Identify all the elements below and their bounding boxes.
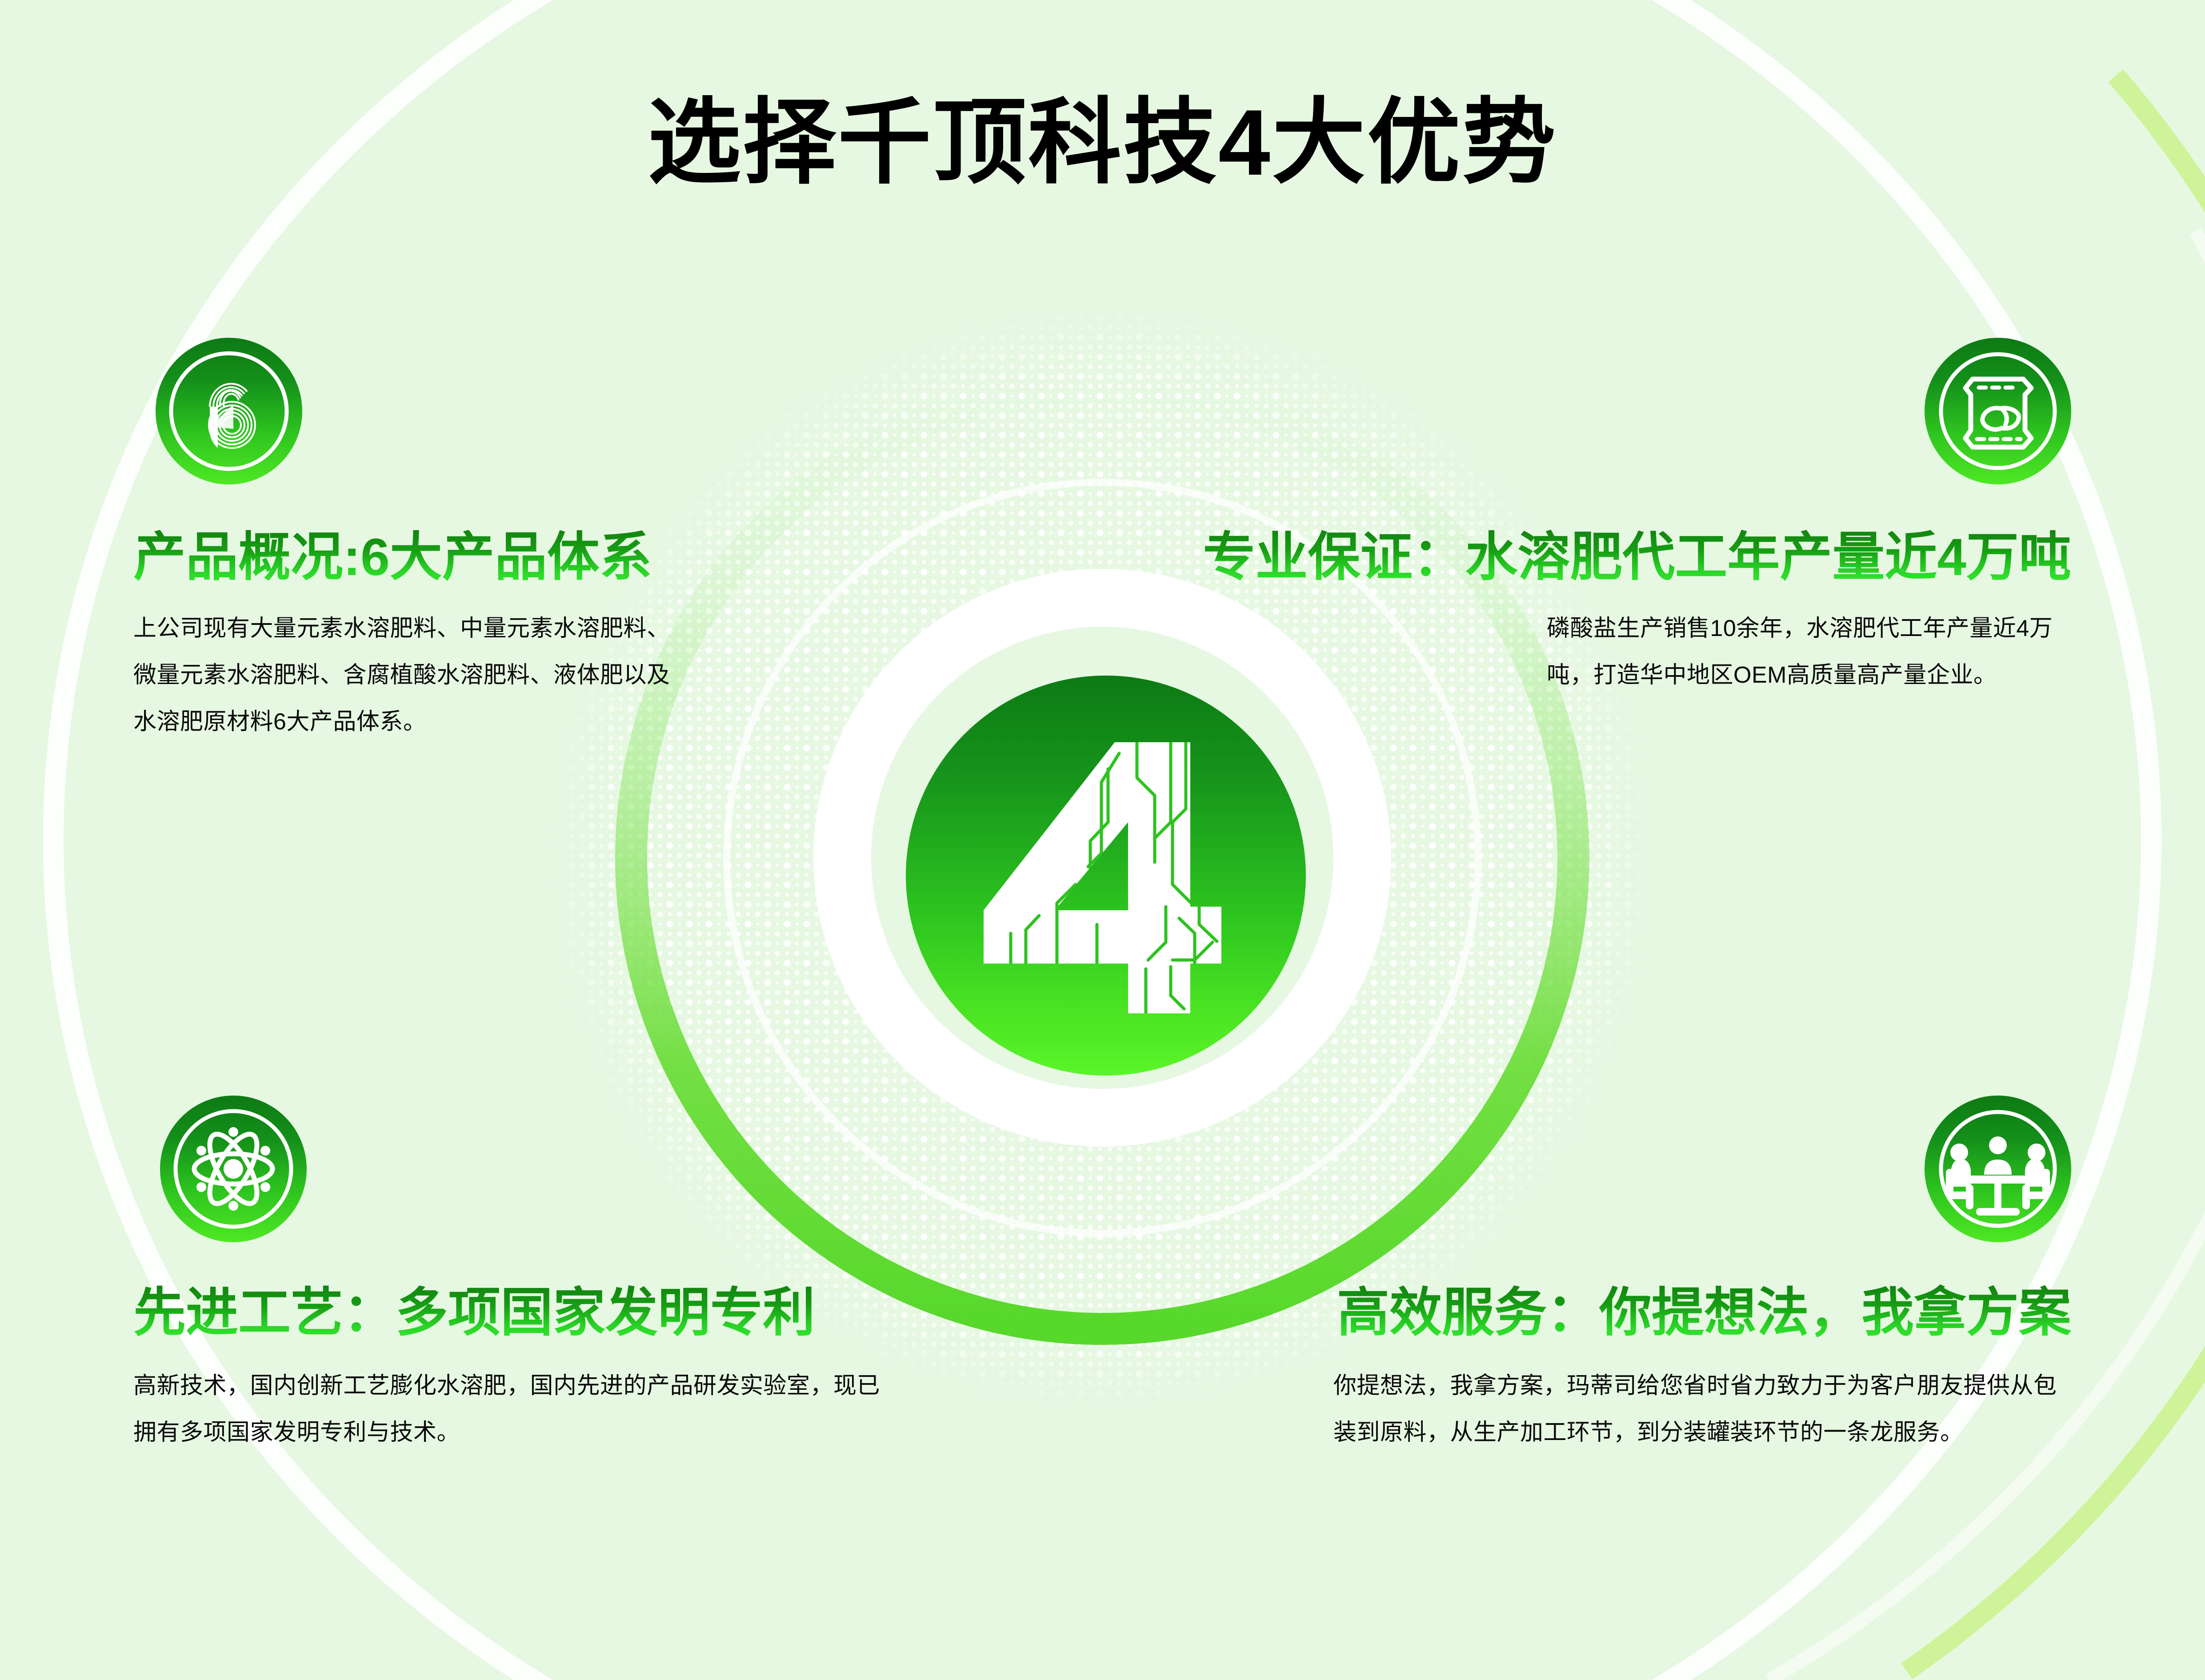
- fertilizer-bag-icon: [1925, 338, 2071, 484]
- atom-icon: [160, 1096, 307, 1242]
- feature-body: 高新技术，国内创新工艺膨化水溶肥，国内先进的产品研发实验室，现已拥有多项国家发明…: [133, 1363, 884, 1456]
- feature-body: 上公司现有大量元素水溶肥料、中量元素水溶肥料、微量元素水溶肥料、含腐植酸水溶肥料…: [133, 605, 689, 745]
- feature-professional-guarantee[interactable]: 专业保证：水溶肥代工年产量近4万吨 磷酸盐生产销售10余年，水溶肥代工年产量近4…: [1169, 338, 2071, 699]
- feature-heading: 专业保证：水溶肥代工年产量近4万吨: [1203, 527, 2071, 588]
- fertilizer-bag-badge: [1925, 338, 2071, 484]
- feature-heading: 高效服务：你提想法，我拿方案: [1337, 1282, 2071, 1344]
- feature-efficient-service[interactable]: 高效服务：你提想法，我拿方案 你提想法，我拿方案，玛蒂司给您省时省力致力于为客户…: [1182, 1096, 2071, 1456]
- atom-badge: [160, 1096, 307, 1242]
- number-six-badge: [156, 338, 302, 484]
- feature-body: 磷酸盐生产销售10余年，水溶肥代工年产量近4万吨，打造华中地区OEM高质量高产量…: [1547, 605, 2071, 699]
- feature-heading: 先进工艺：多项国家发明专利: [133, 1282, 889, 1344]
- page-title: 选择千顶科技4大优势: [0, 91, 2205, 194]
- meeting-table-icon: [1925, 1096, 2071, 1242]
- circuit-four-icon: [906, 676, 1306, 1076]
- feature-heading: 产品概况:6大产品体系: [133, 527, 724, 588]
- number-six-icon: [156, 338, 302, 484]
- feature-advanced-technology[interactable]: 先进工艺：多项国家发明专利 高新技术，国内创新工艺膨化水溶肥，国内先进的产品研发…: [133, 1096, 889, 1456]
- infographic-canvas: 选择千顶科技4大优势: [0, 0, 2205, 1680]
- meeting-table-badge: [1925, 1096, 2071, 1242]
- feature-body: 你提想法，我拿方案，玛蒂司给您省时省力致力于为客户朋友提供从包装到原料，从生产加…: [1333, 1363, 2071, 1456]
- feature-product-overview[interactable]: 产品概况:6大产品体系 上公司现有大量元素水溶肥料、中量元素水溶肥料、微量元素水…: [133, 338, 724, 745]
- center-circle: [906, 676, 1306, 1076]
